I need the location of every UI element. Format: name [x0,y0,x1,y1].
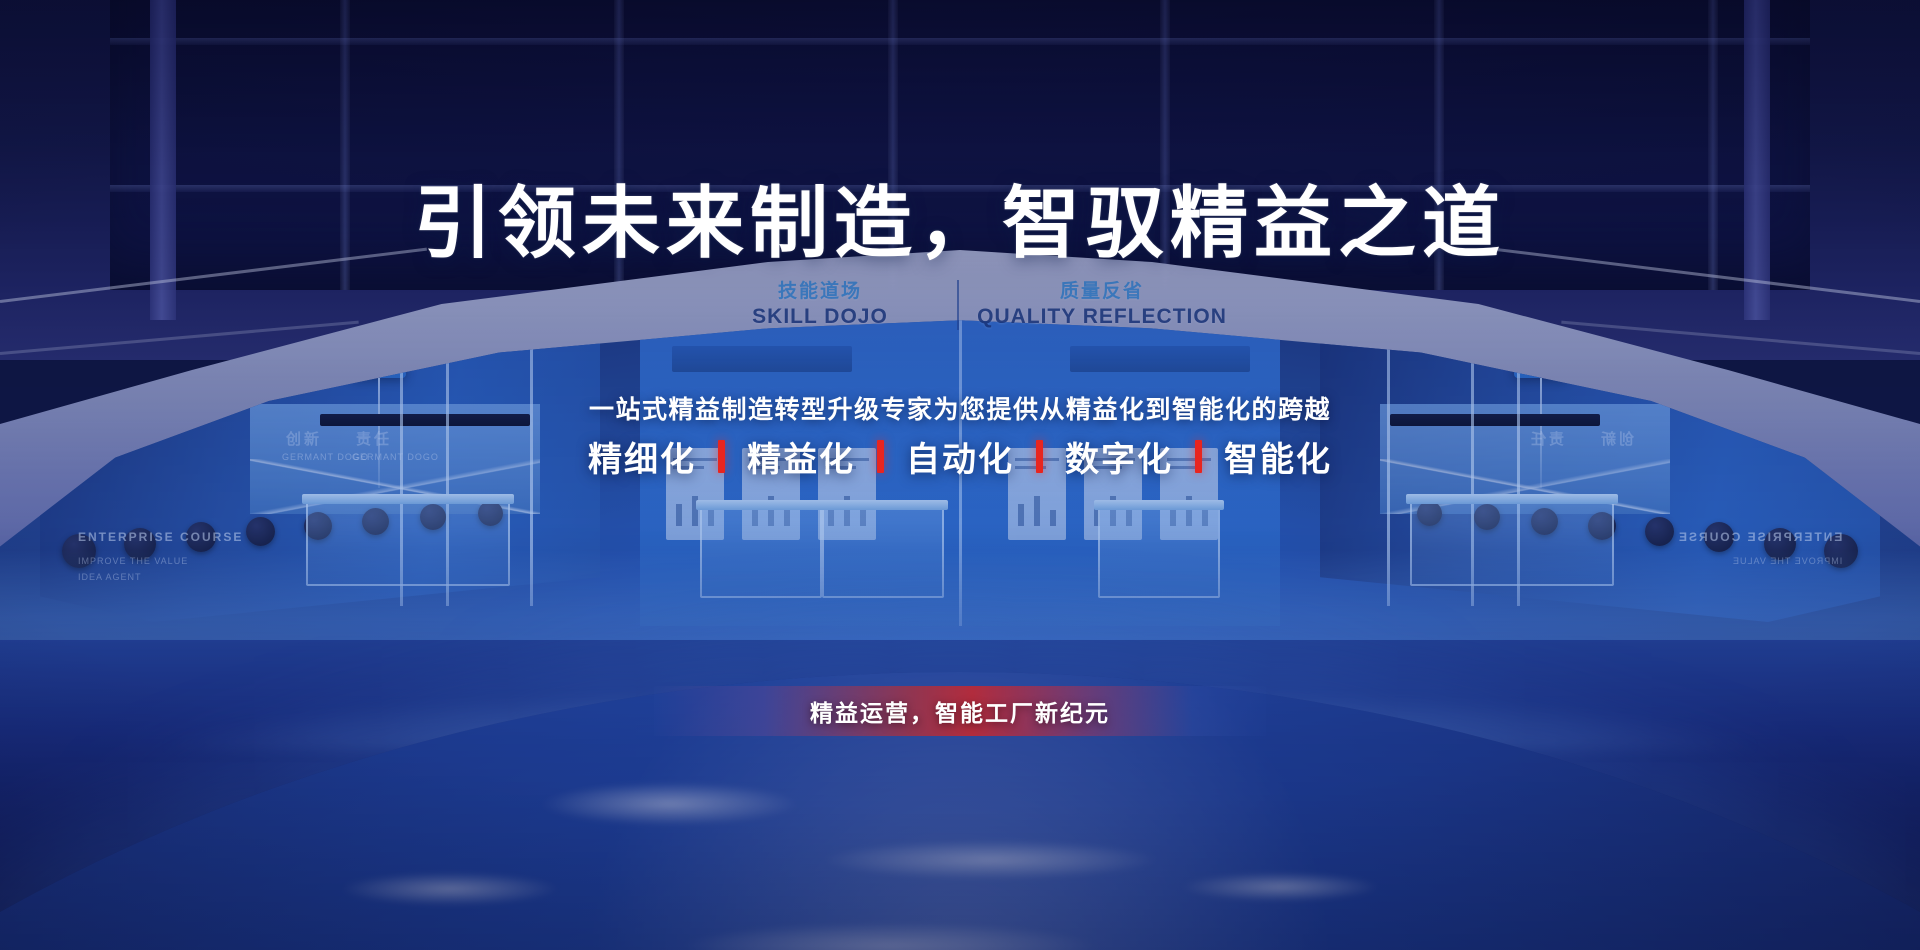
hero-content: 引领未来制造，智驭精益之道 一站式精益制造转型升级专家为您提供从精益化到智能化的… [0,0,1920,950]
keyword-separator-icon [877,440,884,473]
keyword-separator-icon [718,440,725,473]
slogan-text: 精益运营，智能工厂新纪元 [810,694,1110,728]
page-title: 引领未来制造，智驭精益之道 [0,180,1920,267]
keyword-separator-icon [1195,440,1202,473]
hero-subtitle: 一站式精益制造转型升级专家为您提供从精益化到智能化的跨越 [0,390,1920,426]
keyword-separator-icon [1036,440,1043,473]
keyword-item: 智能化 [1202,432,1354,481]
hero-banner: 1 3 技能道场 [0,0,1920,950]
keyword-item: 精细化 [566,432,718,481]
keyword-item: 精益化 [725,432,877,481]
keyword-item: 自动化 [884,432,1036,481]
keyword-item: 数字化 [1043,432,1195,481]
slogan-ribbon: 精益运营，智能工厂新纪元 [654,686,1266,736]
keyword-list: 精细化 精益化 自动化 数字化 智能化 [0,432,1920,481]
